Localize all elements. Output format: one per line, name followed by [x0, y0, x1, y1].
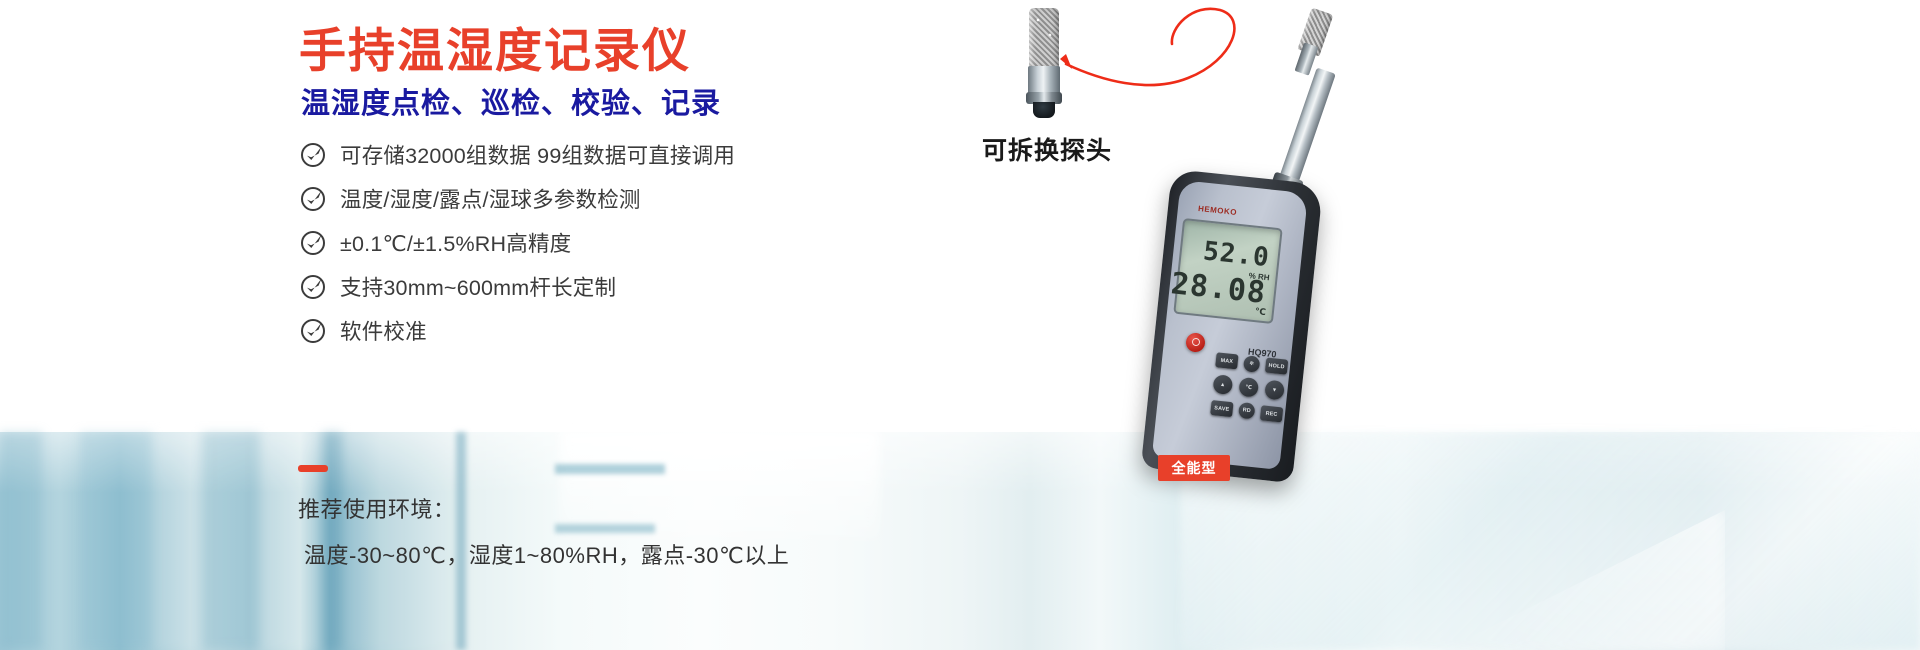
bg-corner-glow — [1425, 510, 1725, 650]
probe-connector-tip — [1033, 102, 1055, 118]
environment-detail: 温度-30~80℃，湿度1~80%RH，露点-30℃以上 — [298, 538, 789, 570]
device-lcd-screen: 52.0 % RH 28.08 ℃ — [1173, 218, 1282, 324]
list-item: 支持30mm~600mm杆长定制 — [300, 264, 735, 308]
list-item: 温度/湿度/露点/湿球多参数检测 — [300, 176, 735, 220]
list-item: 软件校准 — [300, 308, 735, 352]
check-circle-icon — [300, 186, 326, 212]
check-circle-icon — [300, 274, 326, 300]
lcd-humidity-value: 52.0 — [1202, 236, 1271, 273]
check-circle-icon — [300, 142, 326, 168]
key-unit[interactable]: ℃ — [1238, 377, 1259, 398]
key-backlight[interactable]: ✻ — [1243, 355, 1261, 373]
key-save[interactable]: SAVE — [1210, 400, 1233, 417]
check-circle-icon — [300, 230, 326, 256]
feature-text: ±0.1℃/±1.5%RH高精度 — [340, 227, 571, 258]
product-device-image: HEMOKO 52.0 % RH 28.08 ℃ HQ970 MAX ✻ HOL… — [1090, 8, 1420, 478]
lcd-temperature-unit: ℃ — [1254, 306, 1266, 318]
page-subtitle: 温湿度点检、巡检、校验、记录 — [301, 80, 721, 122]
key-down[interactable]: ▼ — [1264, 380, 1285, 401]
list-item: 可存储32000组数据 99组数据可直接调用 — [300, 132, 735, 176]
list-item: ±0.1℃/±1.5%RH高精度 — [300, 220, 735, 264]
device-probe-shaft — [1277, 68, 1336, 192]
environment-title: 推荐使用环境： — [298, 492, 789, 524]
device-keypad: MAX ✻ HOLD ▲ ℃ ▼ SAVE RD REC — [1208, 352, 1293, 445]
feature-list: 可存储32000组数据 99组数据可直接调用 温度/湿度/露点/湿球多参数检测 — [300, 132, 735, 352]
check-circle-icon — [300, 318, 326, 344]
key-read[interactable]: RD — [1238, 402, 1256, 420]
product-banner: 手持温湿度记录仪 温湿度点检、巡检、校验、记录 可存储32000组数据 99组数… — [0, 0, 1920, 650]
feature-text: 支持30mm~600mm杆长定制 — [340, 271, 616, 302]
text-column: 手持温湿度记录仪 温湿度点检、巡检、校验、记录 可存储32000组数据 99组数… — [0, 0, 960, 650]
feature-text: 温度/湿度/露点/湿球多参数检测 — [340, 183, 641, 214]
status-badge: 全能型 — [1158, 455, 1230, 481]
key-hold[interactable]: HOLD — [1265, 357, 1288, 374]
key-rec[interactable]: REC — [1260, 405, 1283, 422]
key-up[interactable]: ▲ — [1212, 374, 1233, 395]
feature-text: 可存储32000组数据 99组数据可直接调用 — [340, 139, 735, 170]
page-title: 手持温湿度记录仪 — [299, 12, 691, 81]
key-max-min[interactable]: MAX — [1215, 352, 1238, 369]
dash-divider — [298, 465, 328, 472]
feature-text: 软件校准 — [340, 315, 427, 346]
environment-block: 推荐使用环境： 温度-30~80℃，湿度1~80%RH，露点-30℃以上 — [298, 465, 789, 570]
